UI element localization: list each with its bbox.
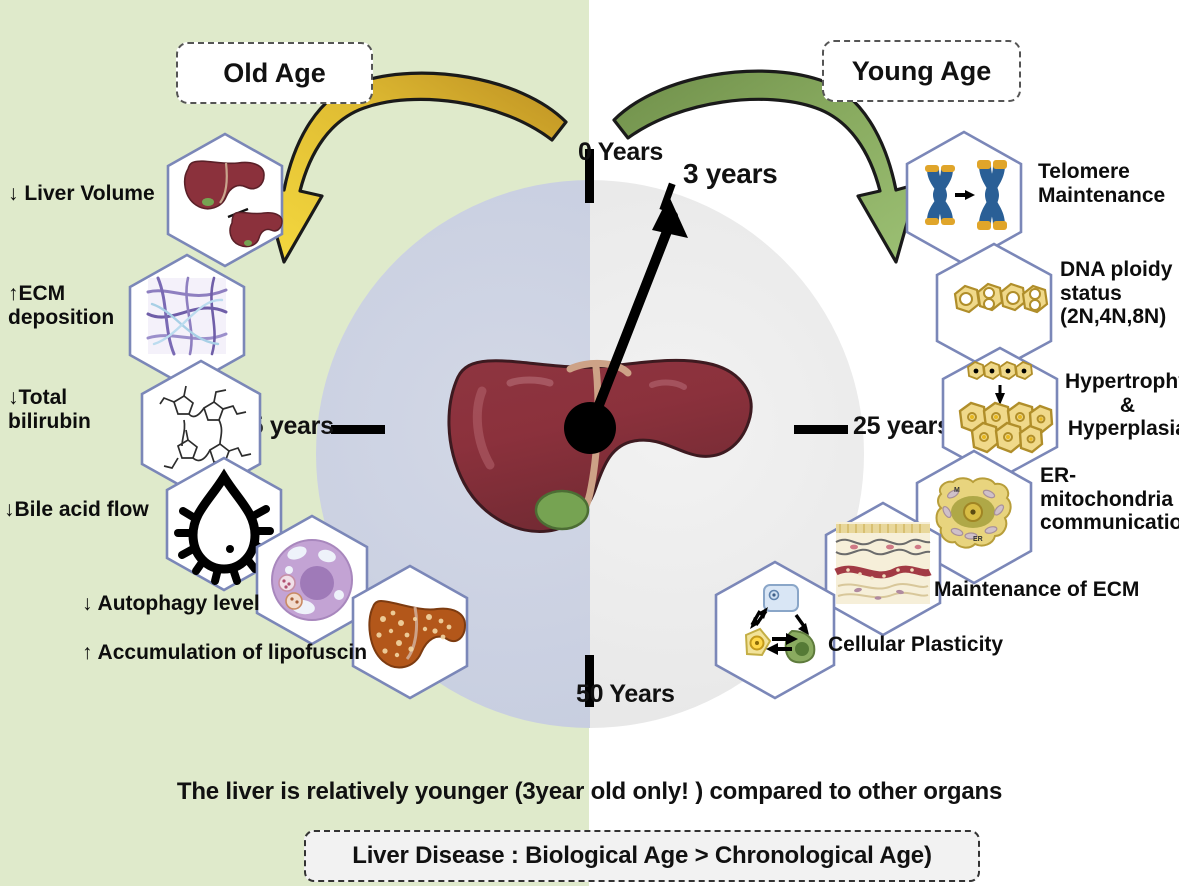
hex-liver-volume [164, 131, 286, 269]
label-liver-volume: ↓ Liver Volume [8, 182, 155, 206]
clock-tick-75-years [331, 425, 385, 434]
figure-canvas: 0 Years 25 years 50 Years 75 years 3 yea… [0, 0, 1179, 886]
label-dna-ploidy: DNA ploidy status (2N,4N,8N) [1060, 258, 1172, 329]
label-lipofuscin: ↑ Accumulation of lipofuscin [82, 641, 367, 665]
label-bile-acid-flow: ↓Bile acid flow [4, 498, 149, 522]
hex-cellular-plasticity [712, 559, 838, 701]
clock-label-50-years: 50 Years [576, 680, 675, 709]
footer-statement: The liver is relatively younger (3year o… [0, 778, 1179, 806]
autophagy-cell-icon [272, 540, 352, 620]
clock-label-25-years: 25 years [853, 412, 951, 441]
label-total-bilirubin: ↓Total bilirubin [8, 386, 91, 433]
hex-maintenance-ecm [822, 500, 944, 638]
clock-label-3-years: 3 years [683, 158, 777, 190]
svg-text:M: M [954, 487, 960, 494]
old-age-title-box: Old Age [176, 42, 373, 104]
label-telomere-maintenance: Telomere Maintenance [1038, 160, 1165, 207]
ecm-fibers-icon [148, 278, 226, 354]
clock-label-0-years: 0 Years [578, 138, 663, 167]
label-er-mitochondria: ER- mitochondria communication [1040, 464, 1179, 535]
clock-tick-25-years [794, 425, 848, 434]
label-cellular-plasticity: Cellular Plasticity [828, 633, 1003, 657]
label-autophagy-level: ↓ Autophagy level [82, 592, 260, 616]
svg-text:ER: ER [973, 536, 983, 543]
clock-center-pivot [564, 402, 616, 454]
young-age-title-box: Young Age [822, 40, 1021, 102]
label-ecm-deposition: ↑ECM deposition [8, 282, 114, 329]
hex-lipofuscin [349, 563, 471, 701]
label-hypertrophy-hyperplasia: Hypertrophy & Hyperplasia [1065, 370, 1179, 441]
footer-boxed-note: Liver Disease : Biological Age > Chronol… [304, 830, 980, 882]
ecm-layers-icon [836, 522, 930, 604]
label-maintenance-ecm: Maintenance of ECM [934, 578, 1139, 602]
